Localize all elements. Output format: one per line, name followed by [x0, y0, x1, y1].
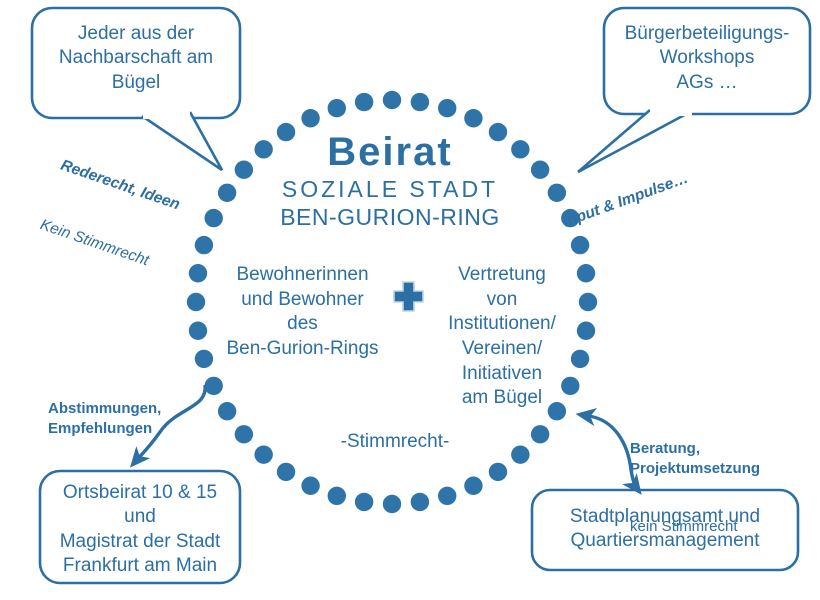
ring-dot	[511, 445, 529, 463]
ring-dot	[355, 493, 373, 511]
ring-dot	[438, 99, 456, 117]
ring-dot	[205, 209, 223, 227]
ring-dot	[383, 495, 401, 513]
bubble-top-right-text: Bürgerbeteiligungs- Workshops AGs …	[604, 22, 810, 95]
center-subtitle-2: BEN-GURION-RING	[240, 203, 540, 232]
ring-dot	[438, 487, 456, 505]
tail-label-bold: Input & Impulse…	[561, 169, 692, 234]
ring-dot	[411, 93, 429, 111]
center-right-column: Vertretung von Institutionen/ Vereinen/ …	[422, 263, 582, 411]
ring-dot	[489, 463, 507, 481]
center-footer-stimmrecht: -Stimmrecht-	[300, 430, 490, 454]
tail-label-bold: Rederecht, Ideen	[58, 156, 183, 216]
ring-dot	[189, 322, 207, 340]
ring-dot	[189, 264, 207, 282]
ring-dot	[218, 184, 236, 202]
bubble-top-left-text: Jeder aus der Nachbarschaft am Bügel	[32, 22, 240, 95]
ring-dot	[301, 477, 319, 495]
ring-dot	[195, 236, 213, 254]
diagram-canvas: Jeder aus der Nachbarschaft am Bügel Red…	[0, 0, 820, 600]
plus-icon	[394, 282, 423, 311]
ring-dot	[328, 99, 346, 117]
ring-dot	[301, 109, 319, 127]
ring-dot	[383, 91, 401, 109]
center-subtitle-1: SOZIALE STADT	[240, 175, 540, 204]
ring-dot	[464, 109, 482, 127]
center-title: Beirat	[240, 127, 540, 178]
ring-dot	[328, 487, 346, 505]
ring-dot	[411, 493, 429, 511]
arrow-label-bold: Beratung, Projektumsetzung	[630, 439, 820, 478]
box-bottom-right-text: Stadtplanungsamt und Quartiersmanagement	[532, 505, 798, 554]
center-left-column: Bewohnerinnen und Bewohner des Ben-Gurio…	[215, 263, 390, 362]
arrow-label-bold: Abstimmungen, Empfehlungen	[48, 399, 238, 438]
ring-dot	[464, 477, 482, 495]
ring-dot	[355, 93, 373, 111]
box-bottom-left-text: Ortsbeirat 10 & 15 und Magistrat der Sta…	[40, 481, 240, 578]
tail-label-light: Kein Stimmrecht	[37, 215, 162, 275]
ring-dot	[277, 463, 295, 481]
ring-dot	[254, 445, 272, 463]
arrow-label-abstimmungen: Abstimmungen, Empfehlungen	[48, 360, 238, 477]
ring-dot	[531, 425, 549, 443]
ring-dot	[187, 293, 205, 311]
